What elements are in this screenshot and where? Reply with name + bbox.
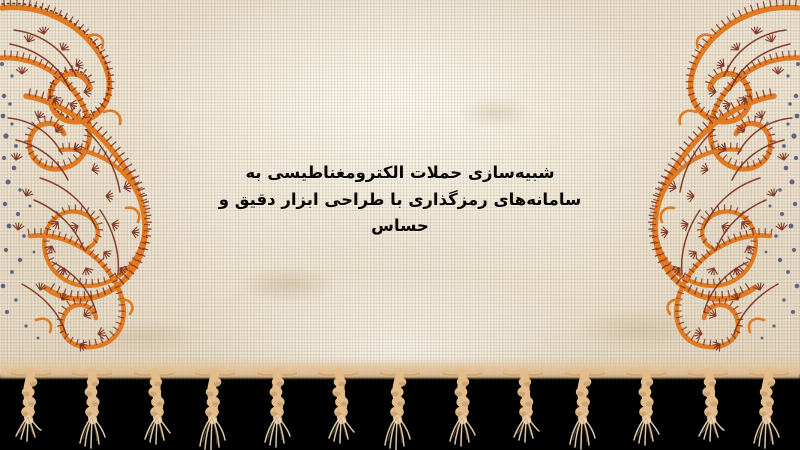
tassel (195, 366, 235, 450)
tassel (380, 366, 420, 450)
tassel (503, 366, 543, 445)
slide-title: شبیه‌سازی حملات الکترومغناطیسی به سامانه… (0, 160, 800, 240)
tassel (72, 366, 112, 450)
tassel (257, 366, 297, 450)
title-line-2: سامانه‌های رمزگذاری با طراحی ابزار دقیق … (150, 187, 650, 214)
tassel (442, 366, 482, 449)
tassel (749, 366, 789, 450)
tassel (318, 366, 358, 446)
tassel (11, 366, 51, 444)
slide-canvas: شبیه‌سازی حملات الکترومغناطیسی به سامانه… (0, 0, 800, 450)
title-line-3: حساس (150, 213, 650, 240)
tassel-fringe (0, 366, 800, 450)
tassel (688, 366, 728, 444)
tassel (565, 366, 605, 450)
tassel (134, 366, 174, 447)
tassel (626, 366, 666, 448)
title-line-1: شبیه‌سازی حملات الکترومغناطیسی به (150, 160, 650, 187)
